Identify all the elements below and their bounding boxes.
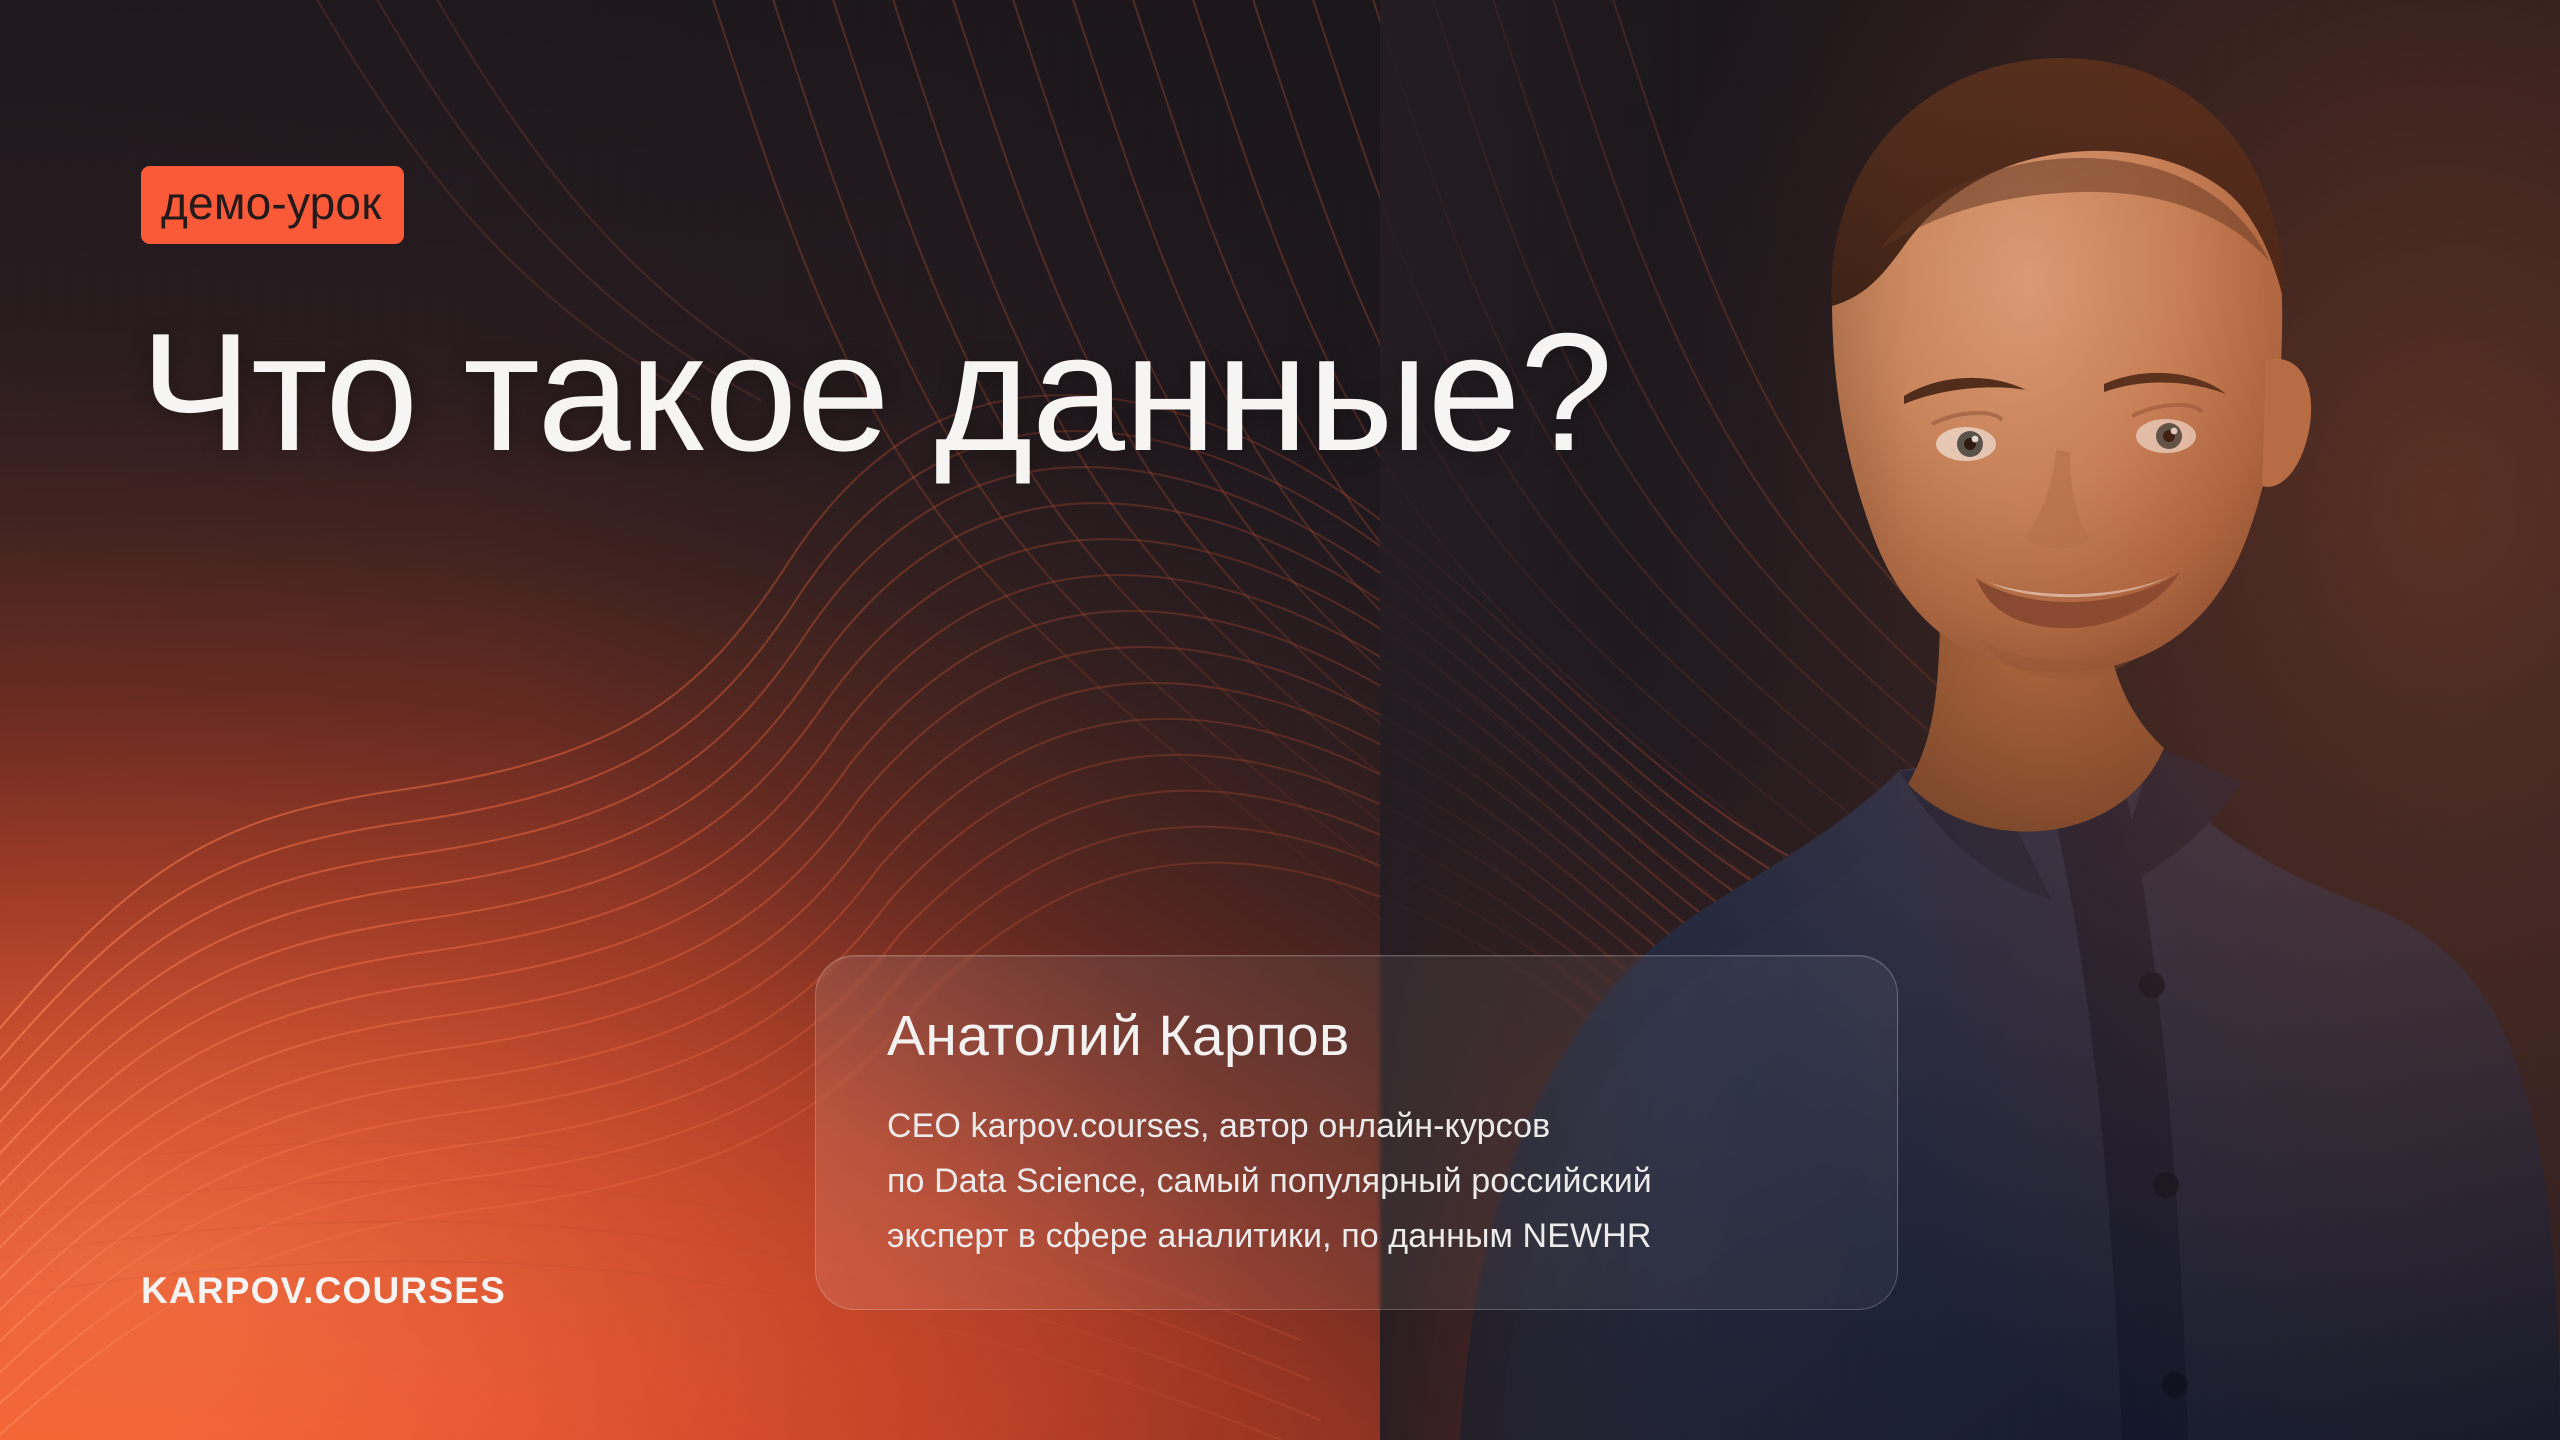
speaker-name: Анатолий Карпов bbox=[887, 1008, 1897, 1065]
speaker-info-card: Анатолий Карпов CEO karpov.courses, авто… bbox=[815, 955, 1898, 1310]
speaker-description-line-1: CEO karpov.courses, автор онлайн-курсов bbox=[887, 1099, 1897, 1154]
speaker-description-line-3: эксперт в сфере аналитики, по данным NEW… bbox=[887, 1209, 1897, 1264]
speaker-description-line-2: по Data Science, самый популярный россий… bbox=[887, 1154, 1897, 1209]
page-title: Что такое данные? bbox=[140, 300, 1612, 485]
demo-lesson-badge: демо-урок bbox=[141, 166, 404, 244]
speaker-description: CEO karpov.courses, автор онлайн-курсов … bbox=[887, 1099, 1897, 1264]
slide-canvas: демо-урок Что такое данные? Анатолий Кар… bbox=[0, 0, 2560, 1440]
karpov-courses-logo: KARPOV.COURSES bbox=[141, 1272, 506, 1309]
